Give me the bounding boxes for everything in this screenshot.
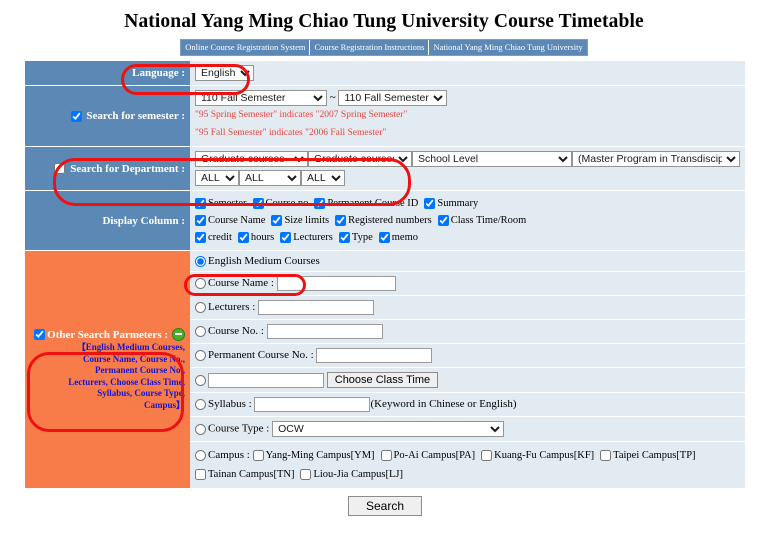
minus-circle-icon[interactable] (172, 328, 185, 341)
semester-field-cell: 110 Fall Semester ~ 110 Fall Semester "9… (190, 86, 745, 146)
course-no-radio[interactable] (195, 326, 206, 337)
syllabus-hint: (Keyword in Chinese or English) (370, 398, 516, 410)
language-row: Language : English (25, 61, 745, 85)
department-grade-select[interactable]: ALL (195, 170, 239, 186)
nav-link-registration-system[interactable]: Online Course Registration System (181, 40, 310, 55)
course-name-input[interactable] (277, 276, 396, 291)
search-button-wrap: Search (25, 489, 745, 516)
department-degree-select[interactable]: Graduate courses (308, 151, 412, 167)
display-col-lecturers-checkbox[interactable] (280, 232, 291, 243)
english-medium-radio[interactable] (195, 256, 206, 267)
other-params-sublist-line-5: Syllabus, Course Type, (28, 388, 185, 400)
display-col-hours-label: hours (251, 232, 274, 243)
semester-row: Search for semester : 110 Fall Semester … (25, 86, 745, 146)
other-params-sublist-line-3: Permanent Course No., (28, 365, 185, 377)
other-params-label: Other Search Parmeters : (47, 329, 168, 341)
campus-tn-label: Tainan Campus[TN] (208, 469, 294, 480)
display-col-summary-label: Summary (437, 198, 478, 209)
course-no-cell: Course No. : (190, 320, 745, 343)
search-form-table: Language : English Search for semester :… (25, 60, 745, 489)
display-column-label: Display Column : (25, 191, 190, 250)
display-col-lecturers-label: Lecturers (293, 232, 333, 243)
campus-kf-checkbox[interactable] (481, 450, 492, 461)
display-col-permanent-course-id-checkbox[interactable] (314, 198, 325, 209)
permanent-course-no-radio[interactable] (195, 350, 206, 361)
semester-to-select[interactable]: 110 Fall Semester (338, 90, 447, 106)
campus-radio[interactable] (195, 450, 206, 461)
other-params-header: Other Search Parmeters : (28, 328, 185, 341)
display-col-type-checkbox[interactable] (339, 232, 350, 243)
other-params-row: Other Search Parmeters : 【English Medium… (25, 251, 745, 271)
campus-option-tp[interactable]: Taipei Campus[TP] (600, 447, 695, 464)
display-col-course-name-checkbox[interactable] (195, 215, 206, 226)
campus-option-ym[interactable]: Yang-Ming Campus[YM] (253, 447, 375, 464)
campus-option-pa[interactable]: Po-Ai Campus[PA] (381, 447, 476, 464)
other-params-sublist-line-1: 【English Medium Courses, (28, 342, 185, 354)
department-group-select[interactable]: ALL (301, 170, 345, 186)
department-program-select[interactable]: (Master Program in Transdisciplinary L (572, 151, 740, 167)
other-params-checkbox[interactable] (34, 329, 45, 340)
nav-link-registration-instructions[interactable]: Course Registration Instructions (310, 40, 429, 55)
campus-option-kf[interactable]: Kuang-Fu Campus[KF] (481, 447, 594, 464)
display-col-summary[interactable]: Summary (424, 195, 478, 212)
display-col-size-limits-label: Size limits (284, 215, 329, 226)
course-type-cell: Course Type : OCW (190, 417, 745, 441)
department-select-line-2: ALLALLALL (195, 170, 742, 186)
campus-tp-label: Taipei Campus[TP] (613, 450, 695, 461)
other-params-sublist-line-2: Course Name, Course No., (28, 354, 185, 366)
campus-pa-checkbox[interactable] (381, 450, 392, 461)
campus-tn-checkbox[interactable] (195, 469, 206, 480)
campus-kf-label: Kuang-Fu Campus[KF] (494, 450, 594, 461)
department-label-cell: Search for Department : (25, 147, 190, 190)
display-col-semester[interactable]: Semester (195, 195, 247, 212)
lecturers-input[interactable] (258, 300, 374, 315)
display-col-class-time-room-checkbox[interactable] (438, 215, 449, 226)
choose-class-time-button[interactable]: Choose Class Time (327, 372, 438, 388)
display-col-credit-label: credit (208, 232, 232, 243)
department-select-line-1: Graduate coursesGraduate coursesSchool L… (195, 151, 742, 167)
semester-from-select[interactable]: 110 Fall Semester (195, 90, 327, 106)
display-col-credit[interactable]: credit (195, 229, 232, 246)
english-medium-cell: English Medium Courses (190, 251, 745, 271)
department-row: Search for Department : Graduate courses… (25, 147, 745, 190)
department-class-select[interactable]: ALL (239, 170, 301, 186)
display-col-semester-label: Semester (208, 198, 247, 209)
campus-cell: Campus : Yang-Ming Campus[YM]Po-Ai Campu… (190, 442, 745, 488)
display-column-line-3: credithoursLecturersTypememo (195, 229, 742, 246)
course-type-label: Course Type : (208, 423, 269, 435)
campus-option-tn[interactable]: Tainan Campus[TN] (195, 466, 294, 483)
display-column-line-1: SemesterCourse noPermanent Course IDSumm… (195, 195, 742, 212)
display-col-credit-checkbox[interactable] (195, 232, 206, 243)
page-title: National Yang Ming Chiao Tung University… (0, 0, 768, 39)
display-col-class-time-room[interactable]: Class Time/Room (438, 212, 527, 229)
semester-label-cell: Search for semester : (25, 86, 190, 146)
other-params-sublist-line-6: Campus】 (28, 400, 185, 412)
department-checkbox[interactable] (54, 163, 65, 174)
course-no-label: Course No. : (208, 325, 264, 337)
display-col-memo-label: memo (392, 232, 418, 243)
syllabus-radio[interactable] (195, 399, 206, 410)
display-col-registered-numbers-label: Registered numbers (348, 215, 432, 226)
campus-lj-label: Liou-Jia Campus[LJ] (313, 469, 403, 480)
display-col-permanent-course-id-label: Permanent Course ID (327, 198, 418, 209)
class-time-input[interactable] (208, 373, 324, 388)
display-col-course-no-checkbox[interactable] (253, 198, 264, 209)
semester-note-fall: "95 Fall Semester" indicates "2006 Fall … (195, 124, 742, 142)
department-level-select[interactable]: Graduate courses (195, 151, 308, 167)
display-col-course-name[interactable]: Course Name (195, 212, 265, 229)
display-col-class-time-room-label: Class Time/Room (451, 215, 527, 226)
display-col-course-no-label: Course no (266, 198, 309, 209)
department-field-cell: Graduate coursesGraduate coursesSchool L… (190, 147, 745, 190)
display-col-size-limits[interactable]: Size limits (271, 212, 329, 229)
language-field-cell: English (190, 61, 745, 85)
campus-tp-checkbox[interactable] (600, 450, 611, 461)
display-col-summary-checkbox[interactable] (424, 198, 435, 209)
nav-link-university-home[interactable]: National Yang Ming Chiao Tung University (429, 40, 586, 55)
display-col-semester-checkbox[interactable] (195, 198, 206, 209)
syllabus-input[interactable] (254, 397, 370, 412)
display-col-lecturers[interactable]: Lecturers (280, 229, 333, 246)
language-label: Language : (25, 61, 190, 85)
display-col-memo[interactable]: memo (379, 229, 418, 246)
display-col-registered-numbers[interactable]: Registered numbers (335, 212, 432, 229)
english-medium-label: English Medium Courses (208, 255, 320, 267)
top-navbar: Online Course Registration SystemCourse … (0, 39, 768, 60)
display-col-hours[interactable]: hours (238, 229, 274, 246)
course-name-radio[interactable] (195, 278, 206, 289)
lecturers-cell: Lecturers : (190, 296, 745, 319)
other-params-sublist-line-4: Lecturers, Choose Class Time, (28, 377, 185, 389)
course-name-label: Course Name : (208, 277, 274, 289)
display-col-course-name-label: Course Name (208, 215, 265, 226)
language-select[interactable]: English (195, 65, 254, 81)
semester-range-separator: ~ (330, 92, 336, 104)
display-col-memo-checkbox[interactable] (379, 232, 390, 243)
course-name-cell: Course Name : (190, 272, 745, 295)
search-button[interactable]: Search (348, 496, 422, 516)
display-column-line-2: Course NameSize limitsRegistered numbers… (195, 212, 742, 229)
display-col-registered-numbers-checkbox[interactable] (335, 215, 346, 226)
other-params-sublist: 【English Medium Courses, Course Name, Co… (28, 341, 185, 411)
semester-checkbox[interactable] (71, 111, 82, 122)
display-col-hours-checkbox[interactable] (238, 232, 249, 243)
campus-pa-label: Po-Ai Campus[PA] (394, 450, 476, 461)
class-time-cell: Choose Class Time (190, 368, 745, 392)
syllabus-cell: Syllabus : (Keyword in Chinese or Englis… (190, 393, 745, 416)
lecturers-label: Lecturers : (208, 301, 255, 313)
campus-ym-checkbox[interactable] (253, 450, 264, 461)
display-col-size-limits-checkbox[interactable] (271, 215, 282, 226)
other-params-label-cell: Other Search Parmeters : 【English Medium… (25, 251, 190, 488)
campus-lj-checkbox[interactable] (300, 469, 311, 480)
display-col-permanent-course-id[interactable]: Permanent Course ID (314, 195, 418, 212)
department-label: Search for Department : (70, 163, 185, 175)
lecturers-radio[interactable] (195, 302, 206, 313)
semester-label: Search for semester : (86, 110, 185, 122)
department-school-select[interactable]: School Level (412, 151, 572, 167)
display-column-row: Display Column : SemesterCourse noPerman… (25, 191, 745, 250)
campus-option-lj[interactable]: Liou-Jia Campus[LJ] (300, 466, 403, 483)
display-column-field-cell: SemesterCourse noPermanent Course IDSumm… (190, 191, 745, 250)
permanent-course-no-label: Permanent Course No. : (208, 349, 314, 361)
syllabus-label: Syllabus : (208, 398, 252, 410)
campus-label: Campus : (208, 449, 250, 461)
display-col-course-no[interactable]: Course no (253, 195, 309, 212)
display-col-type[interactable]: Type (339, 229, 373, 246)
permanent-course-no-input[interactable] (316, 348, 432, 363)
campus-ym-label: Yang-Ming Campus[YM] (266, 450, 375, 461)
course-no-input[interactable] (267, 324, 383, 339)
semester-note-spring: "95 Spring Semester" indicates "2007 Spr… (195, 106, 742, 124)
class-time-radio[interactable] (195, 375, 206, 386)
permanent-course-no-cell: Permanent Course No. : (190, 344, 745, 367)
course-type-select[interactable]: OCW (272, 421, 504, 437)
course-type-radio[interactable] (195, 424, 206, 435)
display-col-type-label: Type (352, 232, 373, 243)
semester-select-line: 110 Fall Semester ~ 110 Fall Semester (195, 90, 742, 106)
